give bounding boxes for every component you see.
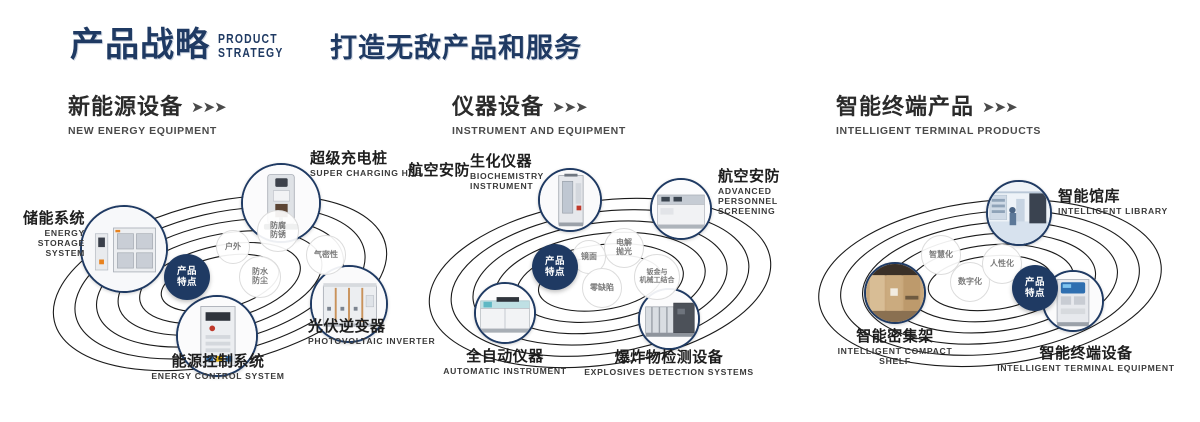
- section-title-en: INTELLIGENT TERMINAL PRODUCTS: [836, 125, 1041, 137]
- product-label-en: INTELLIGENT COMPACT SHELF: [810, 347, 980, 367]
- screening-machine-icon: [652, 180, 710, 238]
- core-badge-product-features: 产品 特点: [532, 244, 578, 290]
- product-label-explosives-detection: 爆炸物检测设备 EXPLOSIVES DETECTION SYSTEMS: [549, 349, 789, 378]
- core-badge-product-features: 产品 特点: [164, 254, 210, 300]
- product-label-zh: 能源控制系统: [78, 353, 358, 370]
- product-label-automatic-instrument: 全自动仪器 AUTOMATIC INSTRUMENT: [425, 348, 585, 377]
- product-label-energy-storage: 储能系统 ENERGY STORAGE SYSTEM: [0, 210, 85, 259]
- orbit-cluster-intelligent: 产品 特点 智慧化 数字化 人性化 智能馆库 INTELLIGENT LIBRA…: [790, 150, 1190, 410]
- product-label-intelligent-library: 智能馆库 INTELLIGENT LIBRARY: [1058, 188, 1168, 217]
- product-node-compact-shelf[interactable]: [864, 262, 926, 324]
- section-title-en: NEW ENERGY EQUIPMENT: [68, 125, 226, 137]
- product-label-zh: 智能终端设备: [986, 345, 1186, 362]
- product-label-biochemistry: 生化仪器 BIOCHEMISTRY INSTRUMENT: [470, 153, 544, 192]
- library-room-icon: [988, 182, 1050, 244]
- product-label-zh: 航空安防: [408, 162, 470, 179]
- product-label-zh: 储能系统: [0, 210, 85, 227]
- product-label-aviation-security-left: 航空安防: [408, 162, 470, 179]
- product-label-zh: 航空安防: [718, 168, 800, 185]
- section-header-intelligent: 智能终端产品➤➤➤ INTELLIGENT TERMINAL PRODUCTS: [836, 96, 1041, 137]
- feature-bubble: 钣金与 机械工结合: [634, 254, 680, 300]
- product-node-personnel-screening[interactable]: [650, 178, 712, 240]
- orbit-cluster-new-energy: 产品 特点 户外 防腐 防锈 防水 防尘 气密性 储能系统 ENERGY STO…: [20, 150, 420, 410]
- product-label-en: INTELLIGENT TERMINAL EQUIPMENT: [986, 364, 1186, 374]
- product-label-en: ENERGY CONTROL SYSTEM: [78, 372, 358, 382]
- section-title-en: INSTRUMENT AND EQUIPMENT: [452, 125, 626, 137]
- feature-bubble: 零缺陷: [582, 268, 622, 308]
- product-label-compact-shelf: 智能密集架 INTELLIGENT COMPACT SHELF: [810, 328, 980, 367]
- product-node-automatic-instrument[interactable]: [474, 282, 536, 344]
- product-label-zh: 全自动仪器: [425, 348, 585, 365]
- product-node-energy-storage[interactable]: [80, 205, 168, 293]
- product-label-en: EXPLOSIVES DETECTION SYSTEMS: [549, 368, 789, 378]
- page-subtitle: 打造无敌产品和服务: [330, 35, 582, 62]
- page-title: 产品战略: [70, 28, 210, 62]
- product-label-en: AUTOMATIC INSTRUMENT: [425, 367, 585, 377]
- section-title-zh: 智能终端产品: [836, 96, 974, 118]
- product-node-intelligent-library[interactable]: [986, 180, 1052, 246]
- section-title-zh: 仪器设备: [452, 96, 544, 118]
- biochemistry-analyzer-icon: [540, 170, 600, 230]
- product-label-terminal-equipment: 智能终端设备 INTELLIGENT TERMINAL EQUIPMENT: [986, 345, 1186, 374]
- feature-bubble: 防腐 防锈: [257, 210, 299, 252]
- orbit-cluster-instrument: 产品 特点 镜面 电解 抛光 零缺陷 钣金与 机械工结合 航空安防 生化仪器 B…: [400, 150, 800, 410]
- product-node-biochemistry[interactable]: [538, 168, 602, 232]
- chevron-right-icon: ➤➤➤: [191, 98, 226, 116]
- product-label-zh: 智能密集架: [810, 328, 980, 345]
- automatic-instrument-icon: [476, 284, 534, 342]
- chevron-right-icon: ➤➤➤: [552, 98, 587, 116]
- product-label-personnel-screening: 航空安防 ADVANCED PERSONNEL SCREENING: [718, 168, 800, 217]
- product-label-en: INTELLIGENT LIBRARY: [1058, 207, 1168, 217]
- feature-bubble: 户外: [216, 230, 250, 264]
- section-header-instrument: 仪器设备➤➤➤ INSTRUMENT AND EQUIPMENT: [452, 96, 626, 137]
- feature-bubble: 气密性: [306, 235, 346, 275]
- section-title-zh: 新能源设备: [68, 96, 183, 118]
- core-badge-product-features: 产品 特点: [1012, 265, 1058, 311]
- section-header-new-energy: 新能源设备➤➤➤ NEW ENERGY EQUIPMENT: [68, 96, 226, 137]
- product-label-en: ENERGY STORAGE SYSTEM: [0, 229, 85, 259]
- energy-storage-cabinet-icon: [82, 207, 166, 291]
- chevron-right-icon: ➤➤➤: [982, 98, 1017, 116]
- product-label-en: BIOCHEMISTRY INSTRUMENT: [470, 172, 544, 192]
- page-title-english: PRODUCT STRATEGY: [218, 32, 283, 60]
- product-label-energy-control: 能源控制系统 ENERGY CONTROL SYSTEM: [78, 353, 358, 382]
- feature-bubble: 防水 防尘: [239, 256, 281, 298]
- product-label-en: ADVANCED PERSONNEL SCREENING: [718, 187, 800, 217]
- product-label-zh: 生化仪器: [470, 153, 544, 170]
- product-label-zh: 爆炸物检测设备: [549, 349, 789, 366]
- compact-shelf-icon: [866, 264, 924, 322]
- product-label-zh: 智能馆库: [1058, 188, 1168, 205]
- page-header: 产品战略 PRODUCT STRATEGY 打造无敌产品和服务: [0, 0, 1200, 88]
